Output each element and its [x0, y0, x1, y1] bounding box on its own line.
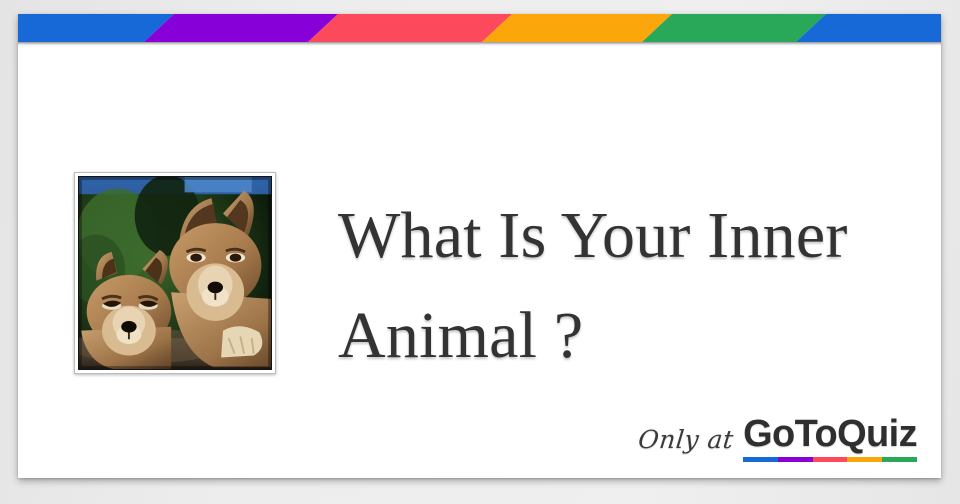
stripe-purple	[144, 14, 338, 42]
rule-segment-orange	[847, 457, 882, 462]
rule-segment-purple	[778, 457, 813, 462]
gotoquiz-wordmark: GoToQuiz	[743, 414, 917, 454]
brand-only-at-text: Only at	[636, 425, 735, 462]
rule-segment-red	[813, 457, 848, 462]
card-body: What Is Your Inner Animal ? Only at GoTo…	[18, 46, 941, 478]
stripe-red	[308, 14, 512, 42]
quiz-title-card: What Is Your Inner Animal ? Only at GoTo…	[18, 14, 941, 478]
stripe-green	[642, 14, 826, 42]
quiz-title: What Is Your Inner Animal ?	[338, 186, 898, 386]
quiz-thumbnail[interactable]	[74, 172, 276, 374]
color-chevron-band	[18, 14, 941, 42]
quiz-thumbnail-image	[78, 176, 272, 370]
rule-segment-blue	[743, 457, 778, 462]
page-root: What Is Your Inner Animal ? Only at GoTo…	[0, 0, 960, 504]
brand-footer[interactable]: Only at GoToQuiz	[638, 414, 917, 462]
gotoquiz-color-rule	[743, 457, 917, 462]
rule-segment-green	[882, 457, 917, 462]
gotoquiz-logo[interactable]: GoToQuiz	[743, 414, 917, 462]
stripe-orange	[482, 14, 672, 42]
